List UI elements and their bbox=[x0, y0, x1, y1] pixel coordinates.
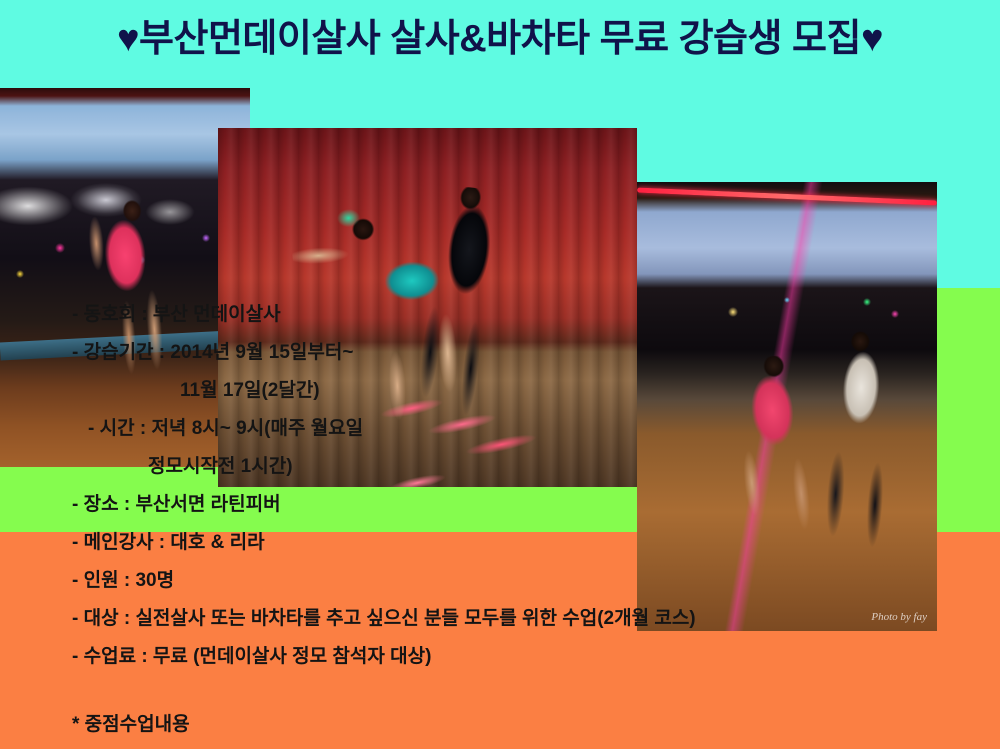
detail-line-spacer bbox=[0, 676, 1000, 706]
details-list: - 동호회 : 부산 먼데이살사 - 강습기간 : 2014년 9월 15일부터… bbox=[0, 296, 1000, 749]
detail-line-time: - 시간 : 저녁 8시~ 9시(매주 월요일 bbox=[0, 410, 1000, 448]
photo-right-neon-strip bbox=[637, 187, 937, 205]
detail-line-focus-title: * 중점수업내용 bbox=[0, 706, 1000, 744]
detail-line-time-cont: 정모시작전 1시간) bbox=[0, 448, 1000, 486]
detail-line-club: - 동호회 : 부산 먼데이살사 bbox=[0, 296, 1000, 334]
detail-line-period-cont: 11월 17일(2달간) bbox=[0, 372, 1000, 410]
detail-line-period: - 강습기간 : 2014년 9월 15일부터~ bbox=[0, 334, 1000, 372]
page-title: ♥부산먼데이살사 살사&바차타 무료 강습생 모집♥ bbox=[0, 10, 1000, 68]
detail-line-focus-salsa: - 실전살사 베이직 및 패턴 bbox=[0, 744, 1000, 749]
detail-line-fee: - 수업료 : 무료 (먼데이살사 정모 참석자 대상) bbox=[0, 638, 1000, 676]
detail-line-audience: - 대상 : 실전살사 또는 바차타를 추고 싶으신 분들 모두를 위한 수업(… bbox=[0, 600, 1000, 638]
detail-line-capacity: - 인원 : 30명 bbox=[0, 562, 1000, 600]
detail-line-place: - 장소 : 부산서면 라틴피버 bbox=[0, 486, 1000, 524]
poster-canvas: ♥부산먼데이살사 살사&바차타 무료 강습생 모집♥ Photo by fay … bbox=[0, 0, 1000, 749]
detail-line-instructor: - 메인강사 : 대호 & 리라 bbox=[0, 524, 1000, 562]
